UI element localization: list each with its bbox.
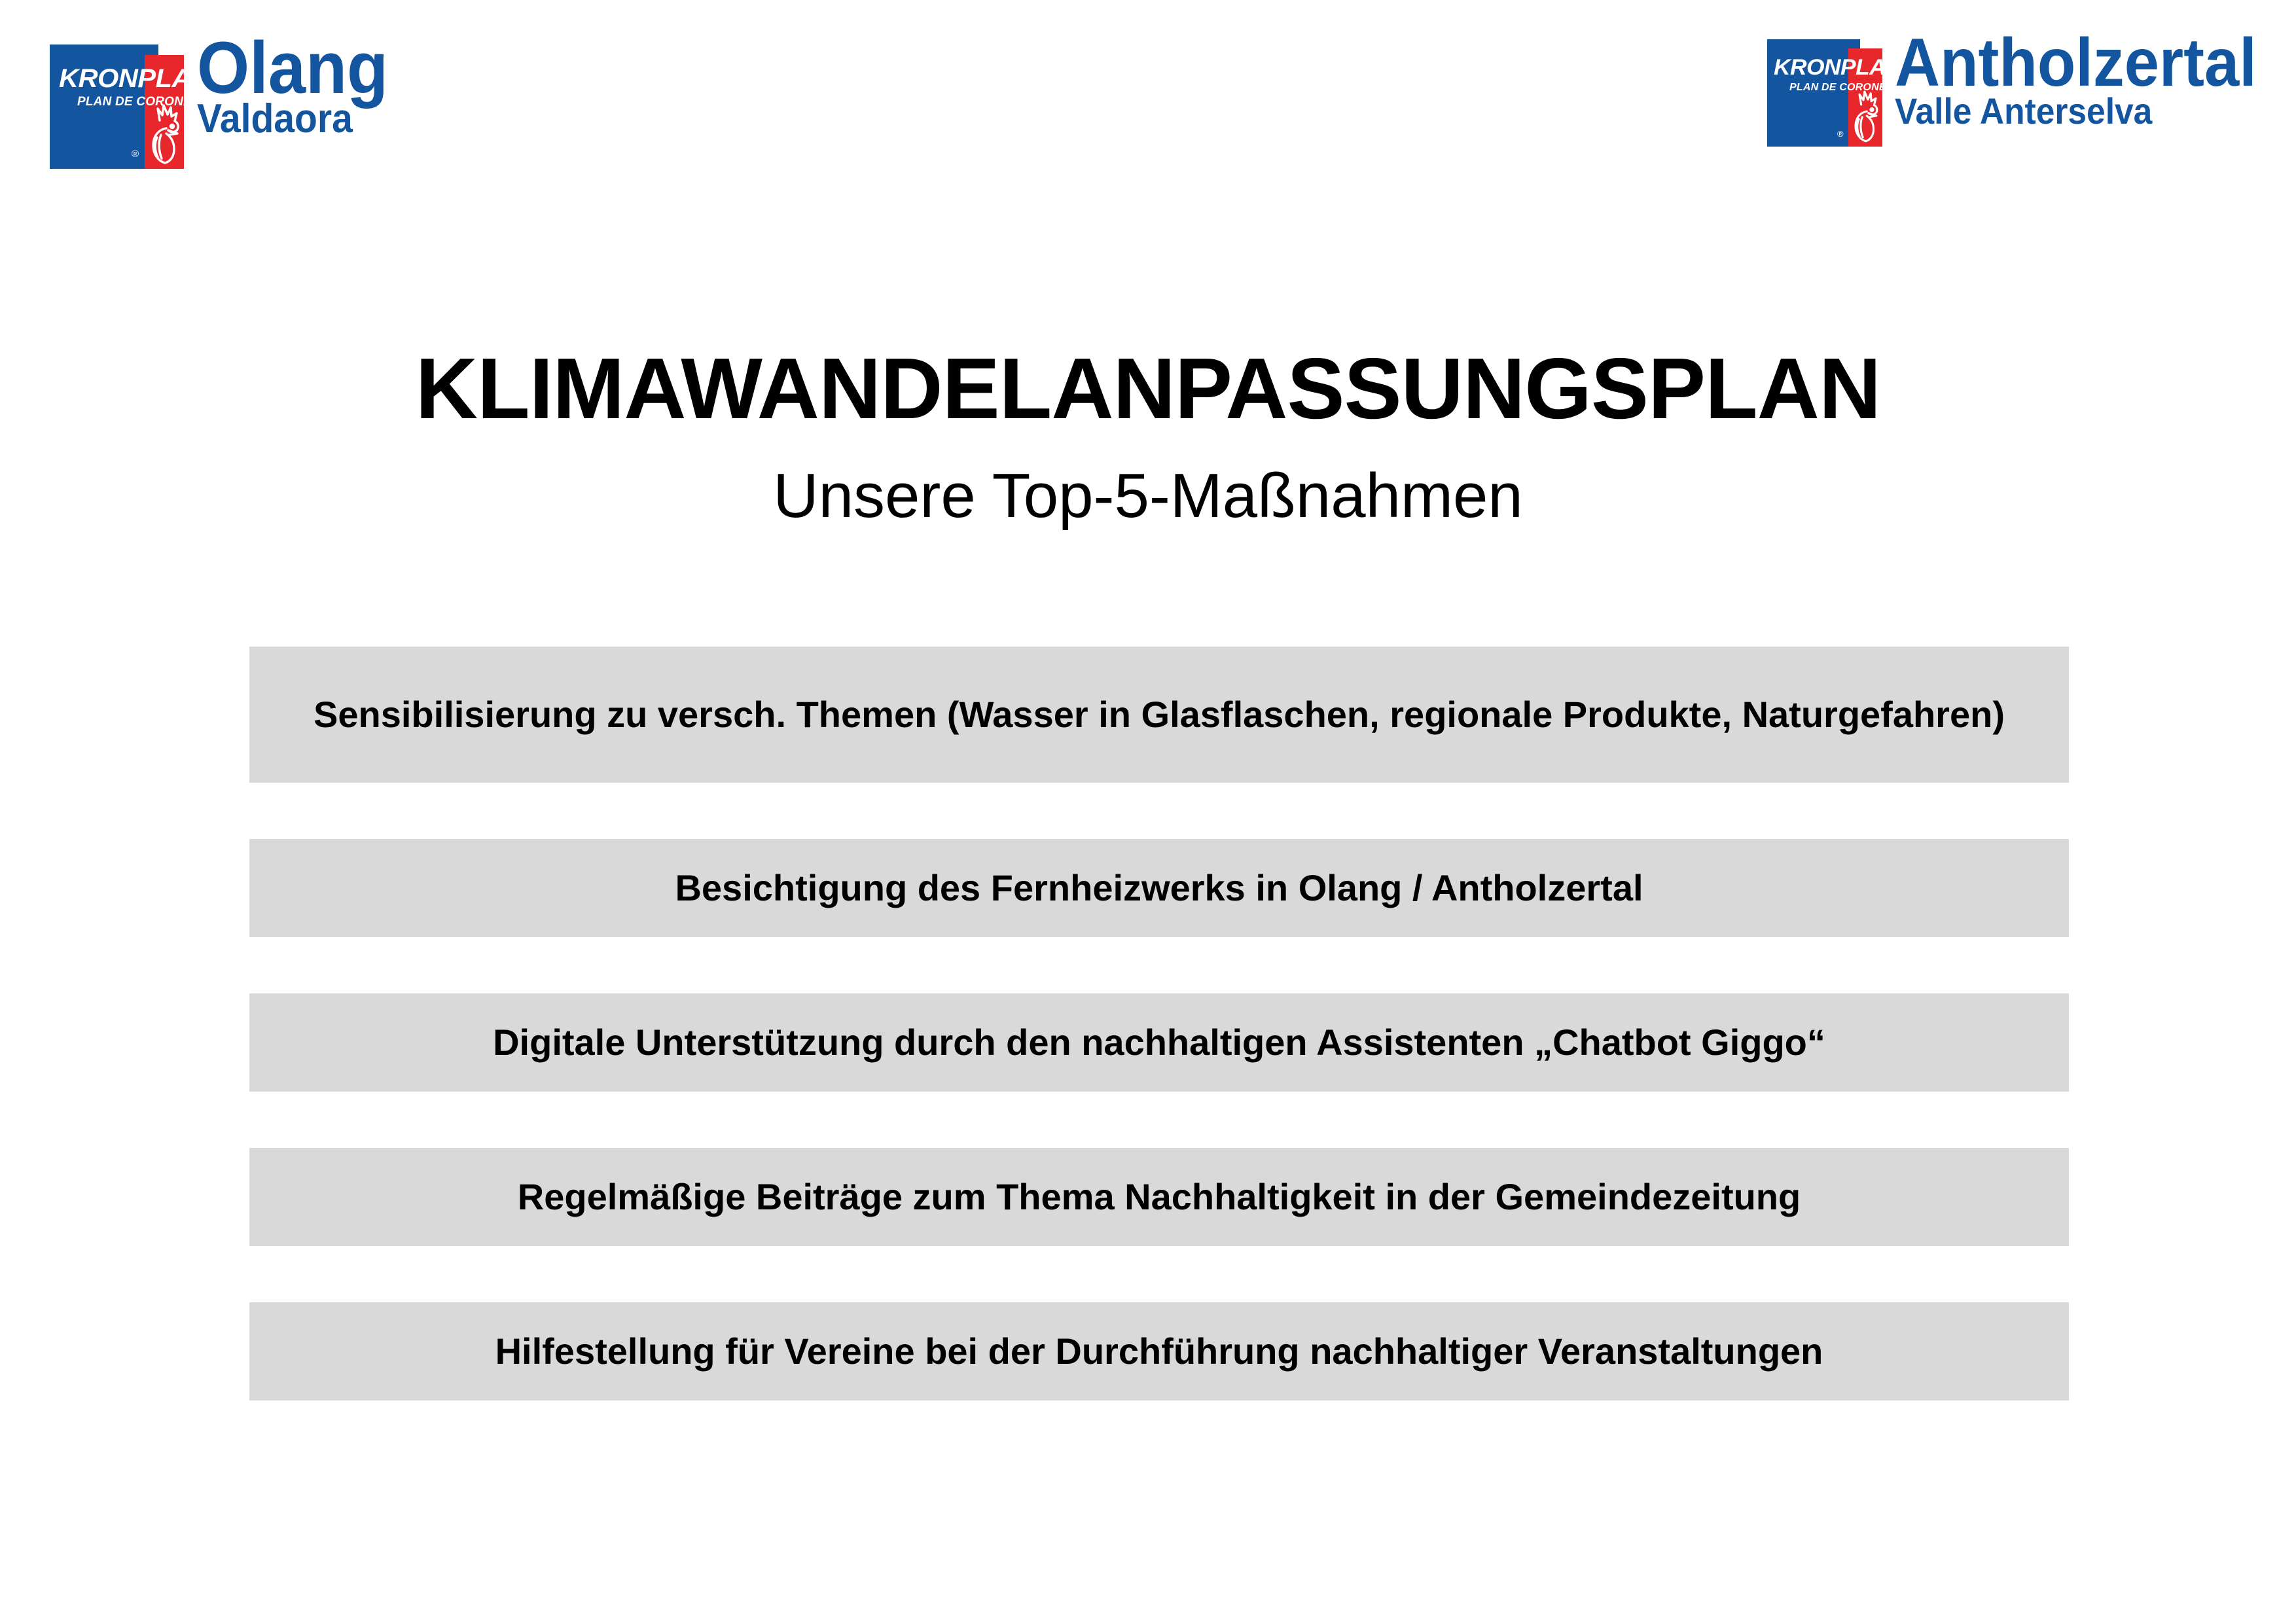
registered-trademark-icon: ®: [132, 149, 139, 159]
place-name-it: Valdaora: [197, 101, 388, 137]
place-name-de: Antholzertal: [1895, 35, 2257, 91]
measure-box: Regelmäßige Beiträge zum Thema Nachhalti…: [249, 1148, 2069, 1246]
measure-box: Besichtigung des Fernheizwerks in Olang …: [249, 839, 2069, 937]
measure-box: Hilfestellung für Vereine bei der Durchf…: [249, 1302, 2069, 1400]
registered-trademark-icon: ®: [1837, 130, 1844, 138]
kronplatz-wordmark: KRONPLATZ: [1774, 56, 1912, 79]
rooster-icon: [1851, 88, 1880, 144]
logo-olang: KRONPLATZ PLAN DE CORONES ® Olang Valdao…: [50, 45, 404, 169]
place-name-antholzertal: Antholzertal Valle Anterselva: [1895, 39, 2288, 128]
place-name-it: Valle Anterselva: [1895, 95, 2257, 128]
logo-antholzertal: KRONPLATZ PLAN DE CORONES ® Antholzertal…: [1767, 39, 2288, 147]
measure-label: Besichtigung des Fernheizwerks in Olang …: [675, 863, 1643, 913]
kronplatz-mark-olang: KRONPLATZ PLAN DE CORONES ®: [50, 45, 190, 169]
rooster-icon: [148, 101, 182, 166]
measure-label: Digitale Unterstützung durch den nachhal…: [493, 1017, 1825, 1067]
measure-label: Hilfestellung für Vereine bei der Durchf…: [495, 1326, 1823, 1376]
page-title: KLIMAWANDELANPASSUNGSPLAN: [0, 346, 2296, 432]
place-name-de: Olang: [197, 38, 388, 98]
measure-box: Digitale Unterstützung durch den nachhal…: [249, 993, 2069, 1092]
measure-box: Sensibilisierung zu versch. Themen (Wass…: [249, 647, 2069, 783]
place-name-olang: Olang Valdaora: [197, 45, 404, 137]
kronplatz-mark-antholzertal: KRONPLATZ PLAN DE CORONES ®: [1767, 39, 1888, 147]
measure-label: Sensibilisierung zu versch. Themen (Wass…: [314, 689, 2005, 740]
page-subtitle: Unsere Top-5-Maßnahmen: [0, 465, 2296, 527]
measure-list: Sensibilisierung zu versch. Themen (Wass…: [249, 647, 2069, 1400]
measure-label: Regelmäßige Beiträge zum Thema Nachhalti…: [518, 1171, 1801, 1222]
